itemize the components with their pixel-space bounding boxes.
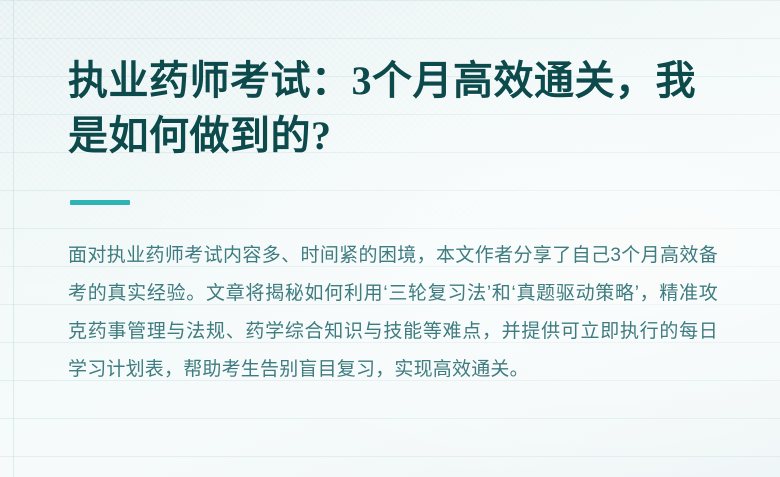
- accent-divider: [70, 200, 130, 205]
- card-content: 执业药师考试：3个月高效通关，我是如何做到的? 面对执业药师考试内容多、时间紧的…: [0, 0, 780, 389]
- article-hero-card: 执业药师考试：3个月高效通关，我是如何做到的? 面对执业药师考试内容多、时间紧的…: [0, 0, 780, 477]
- page-title: 执业药师考试：3个月高效通关，我是如何做到的?: [68, 53, 718, 163]
- article-summary: 面对执业药师考试内容多、时间紧的困境，本文作者分享了自己3个月高效备考的真实经验…: [68, 237, 718, 389]
